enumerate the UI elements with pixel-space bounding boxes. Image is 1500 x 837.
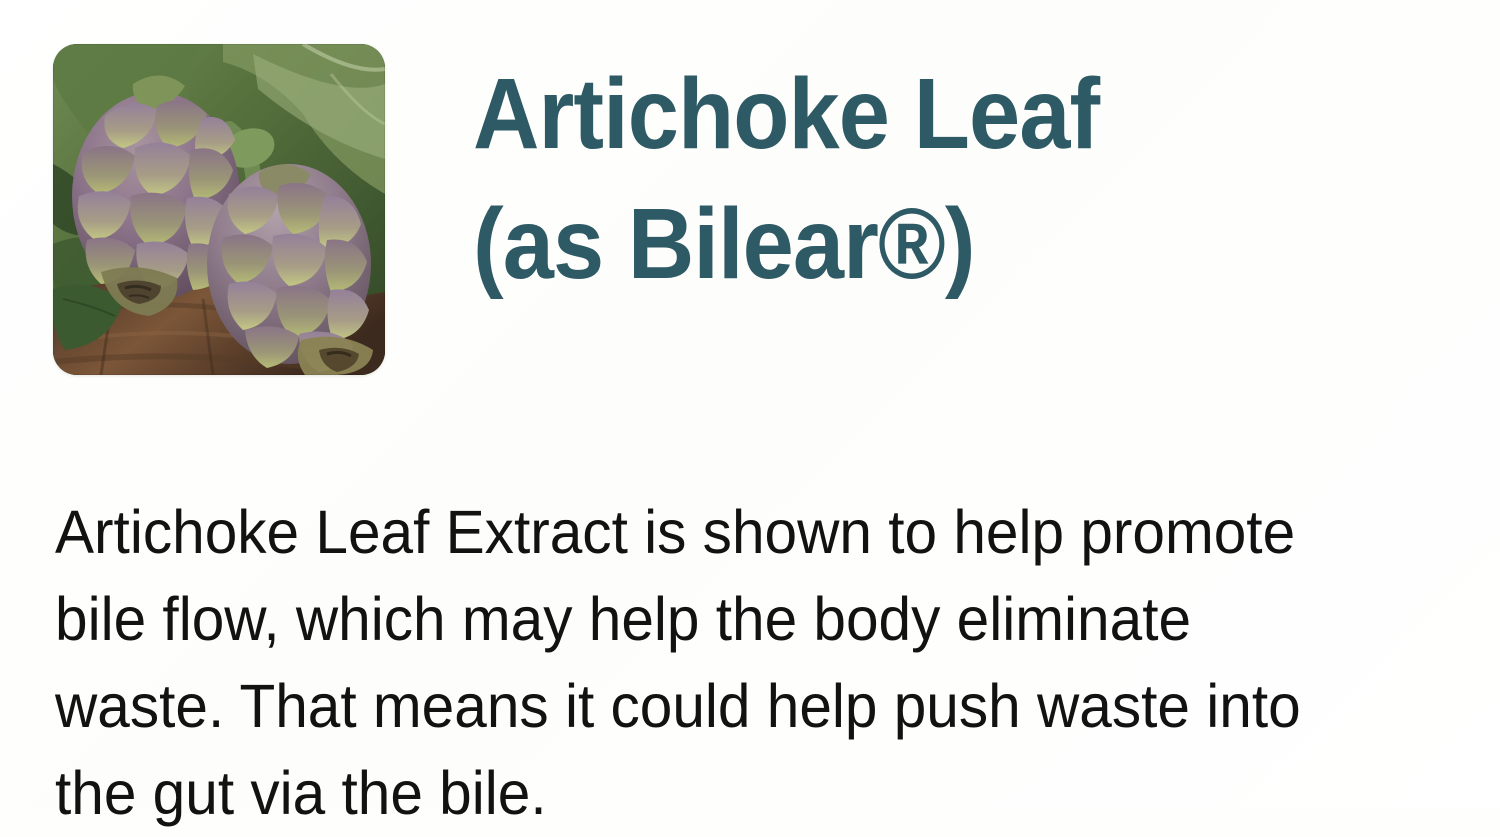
ingredient-description: Artichoke Leaf Extract is shown to help … [55, 489, 1361, 837]
ingredient-title: Artichoke Leaf (as Bilear®) [473, 50, 1453, 308]
ingredient-title-line-2: (as Bilear®) [473, 180, 1375, 308]
ingredient-header: Artichoke Leaf (as Bilear®) [53, 44, 1453, 384]
ingredient-title-line-1: Artichoke Leaf [473, 50, 1375, 178]
ingredient-card: Artichoke Leaf (as Bilear®) Artichoke Le… [0, 0, 1500, 809]
artichoke-photo [53, 44, 385, 375]
